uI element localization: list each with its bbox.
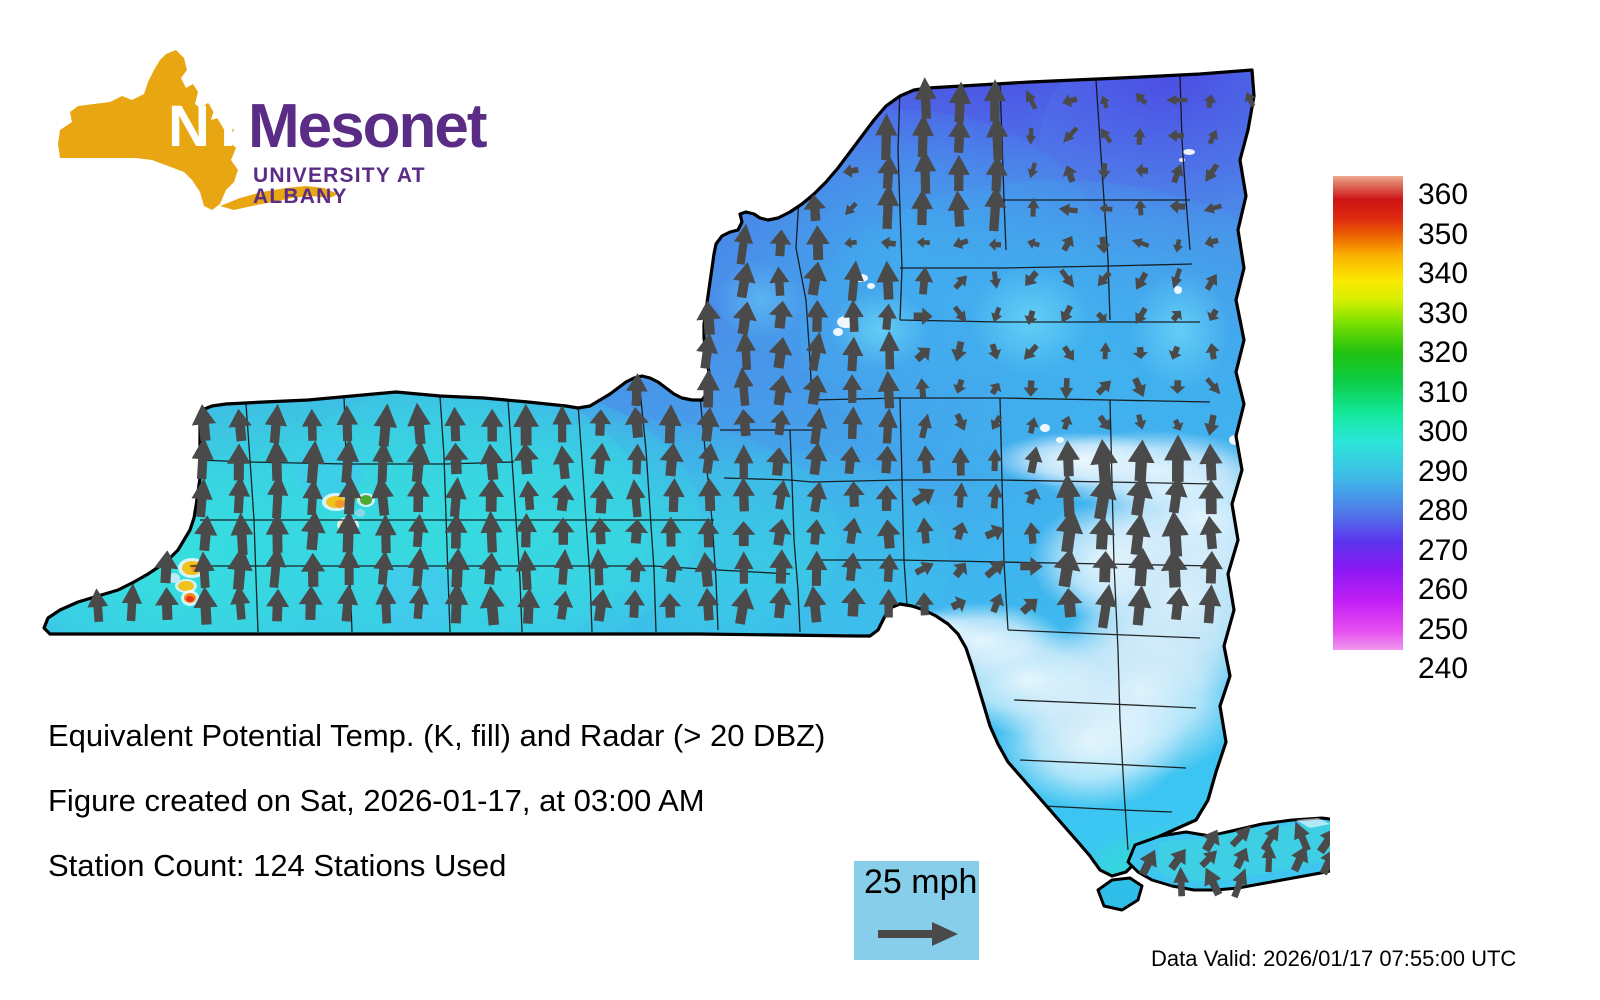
wind-arrow-icon — [876, 919, 960, 949]
colorbar-tick-360: 360 — [1418, 180, 1468, 210]
colorbar-tick-320: 320 — [1418, 338, 1468, 368]
colorbar-gradient — [1333, 176, 1403, 650]
colorbar-tick-250: 250 — [1418, 615, 1468, 645]
caption-station-count: Station Count: 124 Stations Used — [48, 850, 506, 881]
colorbar-tick-270: 270 — [1418, 536, 1468, 566]
caption-created: Figure created on Sat, 2026-01-17, at 03… — [48, 785, 705, 816]
colorbar-tick-290: 290 — [1418, 457, 1468, 487]
colorbar-tick-260: 260 — [1418, 575, 1468, 605]
caption-title: Equivalent Potential Temp. (K, fill) and… — [48, 720, 825, 751]
colorbar-tick-240: 240 — [1418, 654, 1468, 684]
data-valid-timestamp: Data Valid: 2026/01/17 07:55:00 UTC — [1151, 948, 1516, 970]
colorbar-tick-280: 280 — [1418, 496, 1468, 526]
wind-speed-legend: 25 mph — [854, 861, 979, 960]
colorbar-tick-300: 300 — [1418, 417, 1468, 447]
wind-legend-label: 25 mph — [864, 865, 977, 899]
colorbar-tick-340: 340 — [1418, 259, 1468, 289]
colorbar-tick-330: 330 — [1418, 299, 1468, 329]
colorbar-tick-310: 310 — [1418, 378, 1468, 408]
colorbar-tick-350: 350 — [1418, 220, 1468, 250]
